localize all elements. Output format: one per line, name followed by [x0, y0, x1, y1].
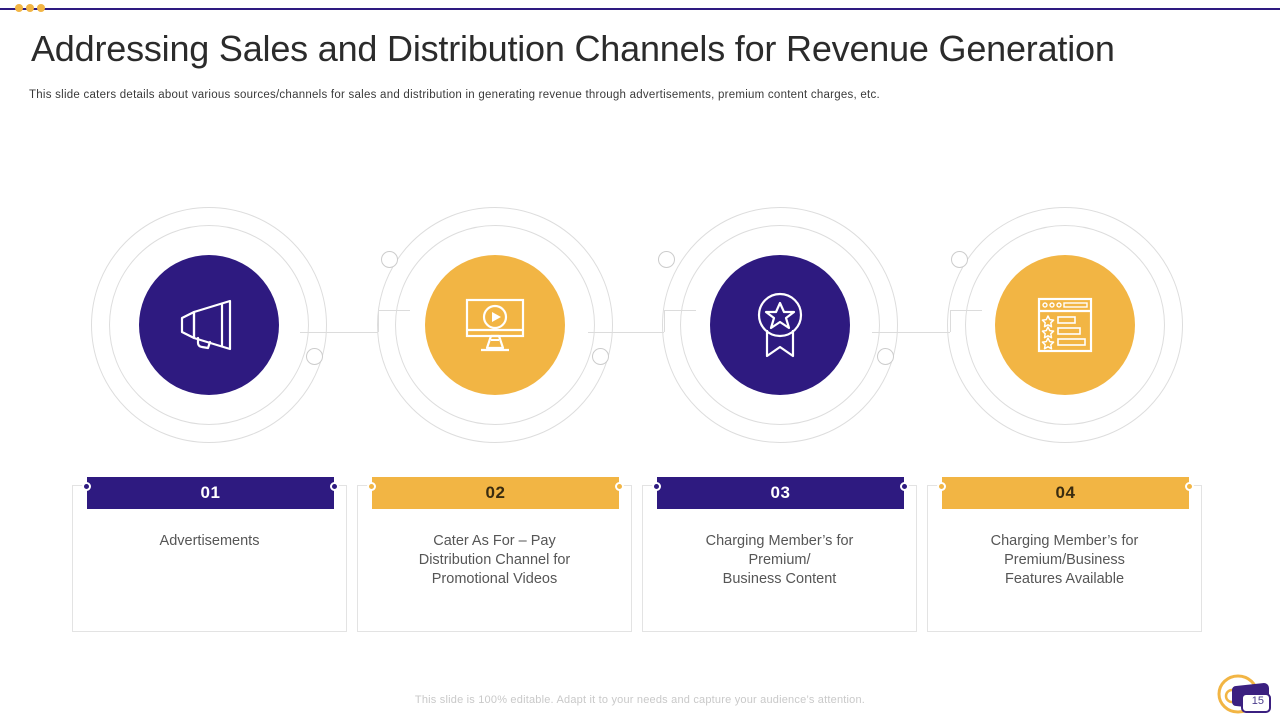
page-subtitle: This slide caters details about various …	[29, 89, 1129, 101]
page-title: Addressing Sales and Distribution Channe…	[31, 28, 1261, 70]
node-orb-right	[877, 348, 894, 365]
award-ribbon-icon	[751, 290, 809, 360]
video-monitor-icon	[461, 294, 529, 356]
top-dot-2	[26, 4, 34, 12]
card-line: Advertisements	[83, 532, 336, 551]
icon-node-2	[360, 190, 630, 460]
vr-headset-logo-icon	[1216, 670, 1274, 718]
bar-dot-right	[900, 482, 909, 491]
icon-node-4	[930, 190, 1200, 460]
step-number-3: 03	[771, 483, 791, 503]
step-number-4: 04	[1056, 483, 1076, 503]
card-line: Cater As For – Pay	[368, 532, 621, 551]
card-line: Charging Member’s for	[938, 532, 1191, 551]
bar-dot-left	[937, 482, 946, 491]
step-number-bar-1: 01	[87, 477, 334, 509]
step-number-bar-3: 03	[657, 477, 904, 509]
bar-dot-right	[1185, 482, 1194, 491]
icon-node-1	[74, 190, 344, 460]
card-line: Distribution Channel for	[368, 551, 621, 570]
card-line: Charging Member’s for	[653, 532, 906, 551]
bar-dot-right	[615, 482, 624, 491]
step-number-bar-4: 04	[942, 477, 1189, 509]
card-line: Premium/	[653, 551, 906, 570]
node-orb-left	[951, 251, 968, 268]
slide-canvas: Addressing Sales and Distribution Channe…	[0, 0, 1280, 720]
step-card-text-2: Cater As For – Pay Distribution Channel …	[368, 532, 621, 589]
top-dot-1	[15, 4, 23, 12]
top-rule	[0, 8, 1280, 10]
icon-node-3	[645, 190, 915, 460]
star-rating-list-icon	[1034, 294, 1096, 356]
step-card-1[interactable]: 01 Advertisements	[72, 485, 347, 632]
step-number-bar-2: 02	[372, 477, 619, 509]
card-line: Business Content	[653, 570, 906, 589]
top-dot-3	[37, 4, 45, 12]
page-number: 15	[1252, 695, 1264, 707]
megaphone-icon	[174, 297, 244, 353]
card-line: Promotional Videos	[368, 570, 621, 589]
node-orb-left	[658, 251, 675, 268]
footer-note: This slide is 100% editable. Adapt it to…	[0, 694, 1280, 706]
step-card-text-3: Charging Member’s for Premium/ Business …	[653, 532, 906, 589]
step-card-3[interactable]: 03 Charging Member’s for Premium/ Busine…	[642, 485, 917, 632]
bar-dot-left	[82, 482, 91, 491]
node-core-4	[995, 255, 1135, 395]
card-line: Features Available	[938, 570, 1191, 589]
step-card-2[interactable]: 02 Cater As For – Pay Distribution Chann…	[357, 485, 632, 632]
card-line: Premium/Business	[938, 551, 1191, 570]
bar-dot-right	[330, 482, 339, 491]
node-core-1	[139, 255, 279, 395]
icon-band	[0, 190, 1280, 460]
bar-dot-left	[367, 482, 376, 491]
step-card-text-4: Charging Member’s for Premium/Business F…	[938, 532, 1191, 589]
node-orb-right	[592, 348, 609, 365]
step-number-2: 02	[486, 483, 506, 503]
step-card-4[interactable]: 04 Charging Member’s for Premium/Busines…	[927, 485, 1202, 632]
node-orb-left	[381, 251, 398, 268]
step-number-1: 01	[201, 483, 221, 503]
node-core-3	[710, 255, 850, 395]
node-core-2	[425, 255, 565, 395]
bar-dot-left	[652, 482, 661, 491]
top-dots	[15, 4, 45, 12]
node-orb	[306, 348, 323, 365]
step-card-text-1: Advertisements	[83, 532, 336, 551]
